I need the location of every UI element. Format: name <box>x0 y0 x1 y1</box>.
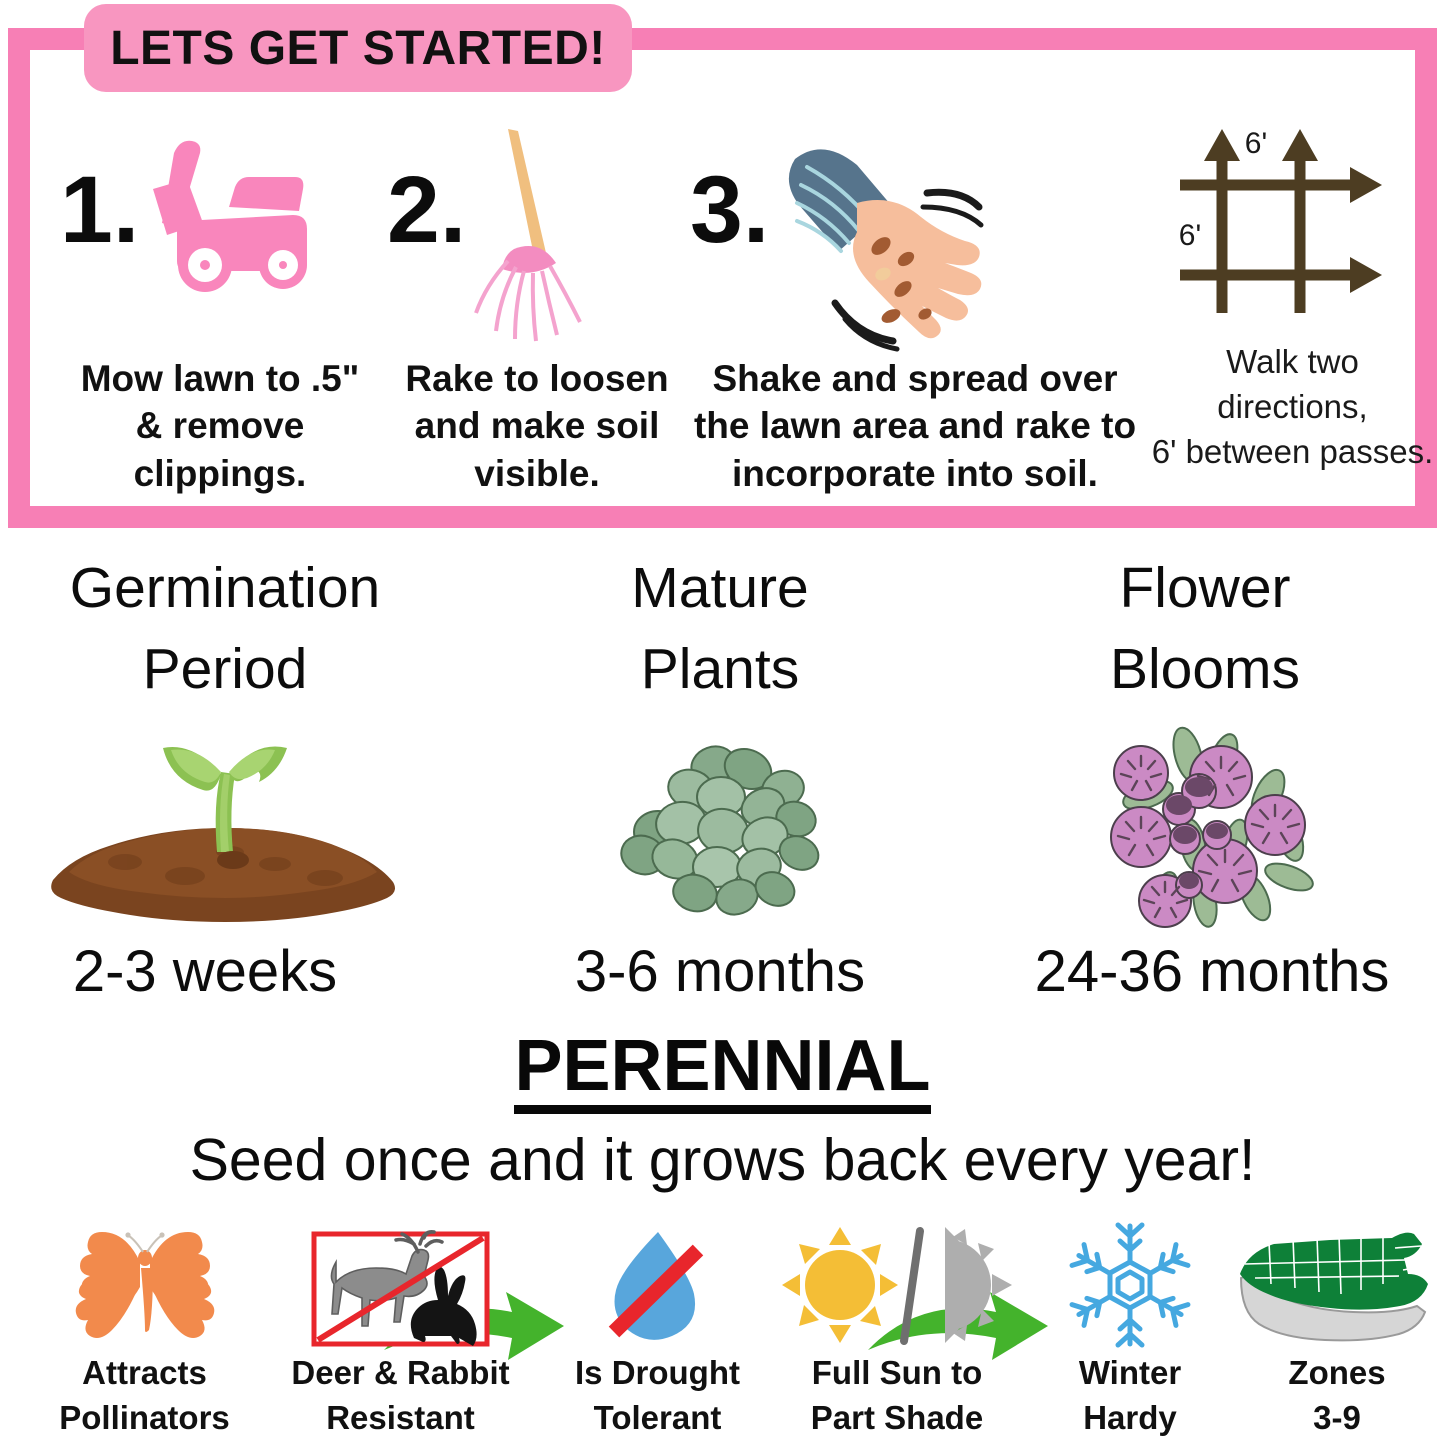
walk-caption-line-3: 6' between passes. <box>1150 432 1435 473</box>
step-1-caption: Mow lawn to .5" & remove clippings. <box>60 355 380 497</box>
feature-5-label-line-2: 3-9 <box>1232 1399 1442 1438</box>
feature-0-art <box>22 1216 267 1348</box>
feature-winter-hardy: Winter Hardy <box>1030 1216 1230 1438</box>
feature-4-label-line-1: Winter <box>1030 1354 1230 1393</box>
stage-0-title-line-1: Germination <box>10 548 440 629</box>
seedling-in-soil-icon <box>25 712 425 937</box>
stage-0-art <box>10 710 440 940</box>
pink-flower-cluster-icon <box>1093 725 1318 925</box>
step-3: 3. <box>690 125 1140 497</box>
stage-2-art <box>980 710 1430 940</box>
snowflake-icon <box>1067 1222 1193 1348</box>
step-3-header: 3. <box>690 125 1140 355</box>
stage-2-title-line-1: Flower <box>980 548 1430 629</box>
lets-get-started-panel: 1. <box>8 28 1437 528</box>
perennial-section: PERENNIAL Seed once and it grows back ev… <box>0 1030 1445 1193</box>
svg-text:6': 6' <box>1245 127 1267 160</box>
steps-row: 1. <box>60 125 1429 545</box>
feature-icon-row: Attracts Pollinators <box>0 1216 1445 1445</box>
feature-4-label-line-2: Hardy <box>1030 1399 1230 1438</box>
stage-1-duration: 3-6 months <box>500 940 940 1004</box>
walk-caption-line-2: directions, <box>1150 387 1435 428</box>
lets-get-started-label: LETS GET STARTED! <box>110 21 606 76</box>
walk-caption-line-1: Walk two <box>1150 342 1435 383</box>
timeline-stage-mature: Mature Plants <box>500 548 940 1004</box>
step-2-header: 2. <box>387 125 687 355</box>
stage-0-title-line-2: Period <box>10 629 440 710</box>
feature-3-art <box>772 1216 1022 1348</box>
perennial-title: PERENNIAL <box>514 1030 930 1114</box>
two-direction-grid-icon: 6' 6' <box>1150 123 1435 338</box>
feature-deer-rabbit-resistant: Deer & Rabbit Resistant <box>268 1216 533 1438</box>
feature-0-label-line-1: Attracts <box>22 1354 267 1393</box>
lets-get-started-badge: LETS GET STARTED! <box>84 4 632 92</box>
step-1-header: 1. <box>60 125 380 355</box>
feature-5-art <box>1232 1216 1442 1348</box>
walk-directions-block: 6' 6' Walk two directions, 6' between pa… <box>1150 123 1435 473</box>
stage-1-art <box>500 710 940 940</box>
svg-text:6': 6' <box>1179 219 1201 252</box>
feature-4-art <box>1030 1216 1230 1348</box>
feature-1-label-line-1: Deer & Rabbit <box>268 1354 533 1393</box>
step-2-caption: Rake to loosen and make soil visible. <box>387 355 687 497</box>
mature-green-plant-icon <box>613 727 828 922</box>
feature-2-art <box>545 1216 770 1348</box>
no-water-droplet-icon <box>598 1228 718 1348</box>
rake-icon <box>472 125 602 350</box>
feature-3-label-line-1: Full Sun to <box>772 1354 1022 1393</box>
stage-2-duration: 24-36 months <box>994 940 1430 1004</box>
stage-0-duration: 2-3 weeks <box>0 940 440 1004</box>
usa-zone-map-icon <box>1235 1226 1440 1348</box>
step-3-caption: Shake and spread over the lawn area and … <box>690 355 1140 497</box>
feature-sun-exposure: Full Sun to Part Shade <box>772 1216 1022 1438</box>
feature-0-label-line-2: Pollinators <box>22 1399 267 1438</box>
feature-drought-tolerant: Is Drought Tolerant <box>545 1216 770 1438</box>
timeline-stage-flower: Flower Blooms <box>980 548 1430 1004</box>
feature-5-label-line-1: Zones <box>1232 1354 1442 1393</box>
growth-timeline: Germination Period <box>0 548 1445 1018</box>
feature-1-label-line-2: Resistant <box>268 1399 533 1438</box>
butterfly-icon <box>60 1228 230 1348</box>
no-deer-rabbit-icon <box>308 1230 493 1348</box>
stage-1-title-line-2: Plants <box>500 629 940 710</box>
step-1-number: 1. <box>60 163 139 258</box>
step-2-number: 2. <box>387 163 466 258</box>
feature-hardiness-zones: Zones 3-9 <box>1232 1216 1442 1438</box>
feature-2-label-line-1: Is Drought <box>545 1354 770 1393</box>
hand-scattering-seeds-icon <box>773 131 1043 346</box>
stage-2-title-line-2: Blooms <box>980 629 1430 710</box>
stage-1-title-line-1: Mature <box>500 548 940 629</box>
timeline-stage-germination: Germination Period <box>10 548 440 1004</box>
sun-part-shade-icon <box>782 1223 1012 1348</box>
feature-2-label-line-2: Tolerant <box>545 1399 770 1438</box>
step-3-number: 3. <box>690 163 769 258</box>
perennial-subtitle: Seed once and it grows back every year! <box>0 1128 1445 1193</box>
step-2: 2. Ra <box>387 125 687 497</box>
feature-3-label-line-2: Part Shade <box>772 1399 1022 1438</box>
feature-1-art <box>268 1216 533 1348</box>
feature-attracts-pollinators: Attracts Pollinators <box>22 1216 267 1438</box>
step-1: 1. <box>60 125 380 497</box>
lawn-mower-icon <box>139 125 319 295</box>
